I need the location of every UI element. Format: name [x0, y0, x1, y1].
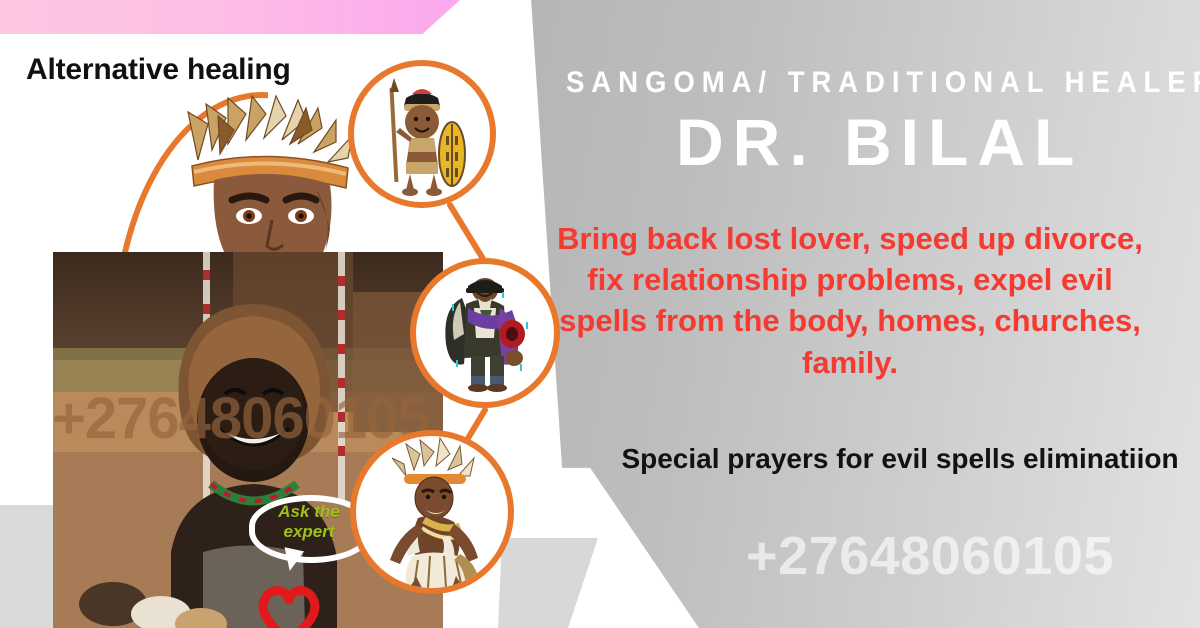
special-prayers-text: Special prayers for evil spells eliminat… — [620, 440, 1180, 478]
kicker-headline: SANGOMA/ TRADITIONAL HEALER — [566, 66, 1136, 100]
poster-canvas: Alternative healing — [0, 0, 1200, 628]
traditional-dancer-with-feather-headdress-illustration — [356, 436, 508, 588]
zulu-warrior-with-spear-and-shield-illustration — [354, 66, 490, 202]
circle-zulu-warrior — [348, 60, 496, 208]
speech-bubble-text: Ask the expert — [257, 502, 361, 541]
red-heart-outline-icon — [256, 582, 322, 628]
top-left-pink-band — [0, 0, 460, 34]
alternative-healing-heading: Alternative healing — [26, 53, 291, 87]
bottom-grey-accent-shape — [498, 538, 598, 628]
healer-name-title: DR. BILAL — [676, 104, 1083, 180]
circle-traditional-diviner — [410, 258, 560, 408]
phone-number-watermark: +27648060105 — [660, 525, 1200, 587]
services-description: Bring back lost lover, speed up divorce,… — [540, 218, 1160, 383]
traditional-diviner-with-cloak-illustration — [416, 264, 554, 402]
circle-traditional-dancer — [350, 430, 514, 594]
